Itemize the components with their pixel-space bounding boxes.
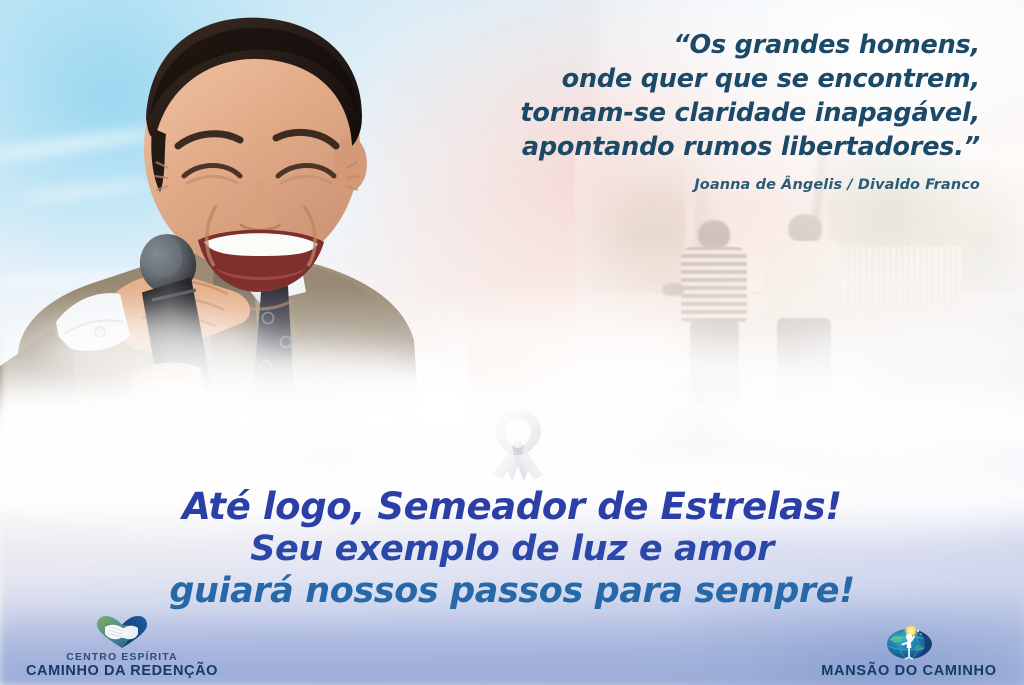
white-mourning-ribbon-icon xyxy=(482,405,554,485)
portrait-bottom-fade xyxy=(0,286,470,430)
quote-line-1: “Os grandes homens, xyxy=(420,28,980,62)
logo-left-line-2: CAMINHO DA REDENÇÃO xyxy=(12,663,232,679)
headline-block: Até logo, Semeador de Estrelas! Seu exem… xyxy=(0,485,1024,612)
headline-line-3: guiará nossos passos para sempre! xyxy=(0,570,1024,612)
logo-right-line-1: MANSÃO DO CAMINHO xyxy=(804,663,1014,679)
memorial-poster: “Os grandes homens, onde quer que se enc… xyxy=(0,0,1024,685)
quote-block: “Os grandes homens, onde quer que se enc… xyxy=(420,28,980,193)
headline-line-1: Até logo, Semeador de Estrelas! xyxy=(0,485,1024,528)
quote-line-2: onde quer que se encontrem, xyxy=(420,62,980,96)
logo-mansao-do-caminho: MANSÃO DO CAMINHO xyxy=(804,624,1014,679)
quote-attribution: Joanna de Ângelis / Divaldo Franco xyxy=(420,177,980,193)
quote-line-3: tornam-se claridade inapagável, xyxy=(420,96,980,130)
logo-left-line-1: CENTRO ESPÍRITA xyxy=(12,651,232,663)
logo-centro-espirita: CENTRO ESPÍRITA CAMINHO DA REDENÇÃO xyxy=(12,613,232,679)
globe-figure-icon xyxy=(804,624,1014,660)
heart-hands-icon xyxy=(12,613,232,649)
quote-line-4: apontando rumos libertadores.” xyxy=(420,130,980,164)
background-photo-two-figures xyxy=(575,150,1024,440)
divaldo-franco-portrait xyxy=(0,0,470,430)
headline-line-2: Seu exemplo de luz e amor xyxy=(0,528,1024,570)
